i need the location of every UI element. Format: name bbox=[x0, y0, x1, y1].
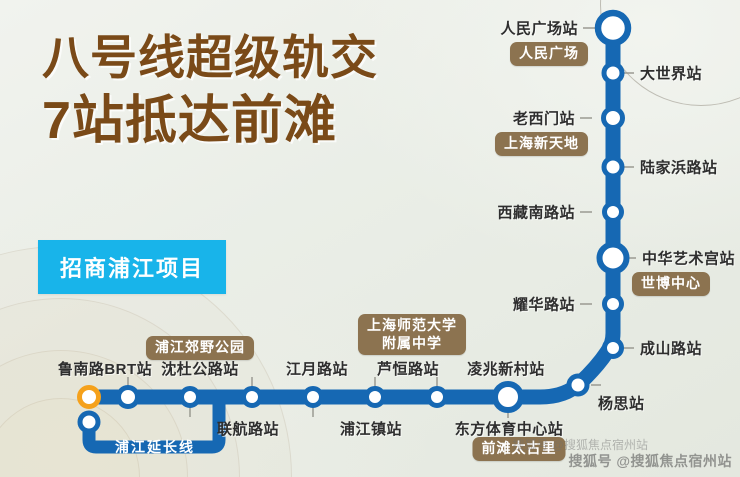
poi-badge-shishida-fuzhong: 上海师范大学 附属中学 bbox=[358, 314, 466, 355]
poi-badge-pujiangjiaoyegongyuan: 浦江郊野公园 bbox=[146, 336, 254, 360]
station-label-lujiabanglu[interactable]: 陆家浜路站 bbox=[640, 157, 718, 178]
station-circle-laoximen[interactable] bbox=[604, 109, 623, 128]
station-label-laoximen[interactable]: 老西门站 bbox=[513, 108, 575, 129]
station-label-zhonghuayishugong[interactable]: 中华艺术宫站 bbox=[642, 248, 735, 269]
station-circle-lujiabanglu[interactable] bbox=[604, 158, 622, 176]
station-circle-yaohualu[interactable] bbox=[605, 296, 622, 313]
watermark: 搜狐号 @搜狐焦点宿州站 bbox=[568, 451, 732, 471]
station-label-lunanlu-brt[interactable]: 鲁南路BRT站 bbox=[58, 358, 152, 379]
station-label-lianhanglu[interactable]: 联航路站 bbox=[217, 418, 279, 439]
station-circle-jiangyuelu[interactable] bbox=[244, 389, 261, 406]
station-circle-lianhanglu[interactable] bbox=[182, 389, 199, 406]
station-circle-lunanlu-brt[interactable] bbox=[80, 388, 99, 407]
station-label-dashijie[interactable]: 大世界站 bbox=[640, 63, 702, 84]
station-label-lingzhaoxincun[interactable]: 凌兆新村站 bbox=[467, 358, 545, 379]
poi-badge-shibozhongxin: 世博中心 bbox=[632, 272, 710, 296]
station-circle-renminguangchang[interactable] bbox=[598, 13, 628, 43]
station-label-yangsi[interactable]: 杨思站 bbox=[598, 393, 645, 414]
station-circle-chengshanlu[interactable] bbox=[605, 340, 622, 357]
branch-line-label: 浦江延长线 bbox=[115, 437, 195, 457]
station-label-shendugonglu[interactable]: 沈杜公路站 bbox=[161, 358, 239, 379]
poi-badge-xintiandi: 上海新天地 bbox=[495, 132, 588, 156]
station-circle-pujiangzhen[interactable] bbox=[305, 389, 322, 406]
station-label-yaohualu[interactable]: 耀华路站 bbox=[513, 294, 575, 315]
station-label-chengshanlu[interactable]: 成山路站 bbox=[640, 338, 702, 359]
station-label-jiangyuelu[interactable]: 江月路站 bbox=[286, 358, 348, 379]
station-circle-dashijie[interactable] bbox=[604, 64, 622, 82]
station-label-luhenglu[interactable]: 芦恒路站 bbox=[377, 358, 439, 379]
watermark-sub: 搜狐号 @搜狐焦点宿州站 bbox=[512, 436, 648, 453]
station-circle-lingzhaoxincun[interactable] bbox=[429, 389, 446, 406]
station-circle-yangsi[interactable] bbox=[569, 376, 587, 394]
station-circle-branch-end[interactable] bbox=[80, 413, 98, 431]
station-circle-zhonghuayishugong[interactable] bbox=[600, 245, 627, 272]
station-circle-dongfangtiyuzhongxin[interactable] bbox=[495, 384, 521, 410]
station-label-xizangnanlu[interactable]: 西藏南路站 bbox=[497, 202, 575, 223]
station-circle-luhenglu[interactable] bbox=[367, 389, 384, 406]
poi-badge-renminguangchang: 人民广场 bbox=[510, 42, 588, 66]
station-label-renminguangchang[interactable]: 人民广场站 bbox=[500, 18, 578, 39]
station-circle-shendugonglu[interactable] bbox=[119, 388, 138, 407]
station-circle-xizangnanlu[interactable] bbox=[605, 204, 622, 221]
station-label-pujiangzhen[interactable]: 浦江镇站 bbox=[340, 418, 402, 439]
metro-map-poster: 八号线超级轨交 7站抵达前滩 招商浦江项目 bbox=[0, 0, 740, 477]
